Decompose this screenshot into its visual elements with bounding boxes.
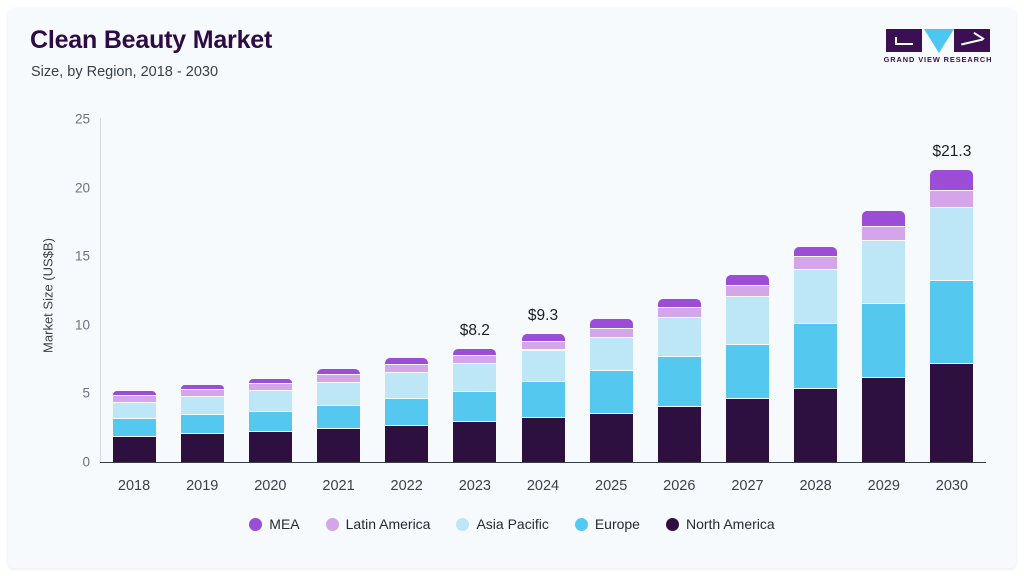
bar-segment-2023-asia-pacific[interactable] — [453, 363, 496, 390]
legend-item-label: Europe — [595, 516, 640, 532]
bar-segment-2028-north-america[interactable] — [794, 388, 837, 462]
y-axis-tick-0: 0 — [56, 455, 90, 470]
bar-segment-2027-north-america[interactable] — [726, 398, 769, 462]
legend-item-label: Asia Pacific — [476, 516, 548, 532]
bar-2025[interactable] — [590, 319, 633, 462]
chart-card: Clean Beauty Market Size, by Region, 201… — [8, 8, 1016, 568]
legend-item-latin-america[interactable]: Latin America — [326, 516, 431, 532]
bar-segment-2022-latin-america[interactable] — [385, 364, 428, 372]
chart-legend: MEALatin AmericaAsia PacificEuropeNorth … — [8, 516, 1016, 532]
bar-segment-2020-latin-america[interactable] — [249, 383, 292, 390]
bar-segment-2027-asia-pacific[interactable] — [726, 296, 769, 344]
bar-segment-2030-latin-america[interactable] — [930, 190, 973, 206]
x-axis-tick-2027: 2027 — [731, 478, 763, 494]
bar-2021[interactable] — [317, 369, 360, 462]
bar-segment-2026-latin-america[interactable] — [658, 307, 701, 317]
bar-segment-2022-europe[interactable] — [385, 398, 428, 425]
x-axis-tick-2028: 2028 — [799, 478, 831, 494]
bar-segment-2018-europe[interactable] — [113, 418, 156, 436]
bar-segment-2019-latin-america[interactable] — [181, 389, 224, 396]
bar-segment-2029-latin-america[interactable] — [862, 226, 905, 240]
legend-swatch-icon — [249, 518, 262, 531]
bar-2026[interactable] — [658, 299, 701, 462]
bar-segment-2026-mea[interactable] — [658, 299, 701, 307]
x-axis-tick-2025: 2025 — [595, 478, 627, 494]
bar-segment-2026-asia-pacific[interactable] — [658, 317, 701, 357]
bar-segment-2022-asia-pacific[interactable] — [385, 372, 428, 398]
bar-segment-2026-europe[interactable] — [658, 356, 701, 405]
x-axis-tick-2026: 2026 — [663, 478, 695, 494]
bar-2020[interactable] — [249, 379, 292, 462]
bar-segment-2022-north-america[interactable] — [385, 425, 428, 462]
bar-segment-2025-latin-america[interactable] — [590, 328, 633, 338]
bar-segment-2030-asia-pacific[interactable] — [930, 207, 973, 280]
bar-2024[interactable] — [522, 334, 565, 462]
legend-swatch-icon — [666, 518, 679, 531]
y-axis-tick-10: 10 — [56, 317, 90, 332]
bar-segment-2021-mea[interactable] — [317, 369, 360, 374]
x-axis-tick-2020: 2020 — [254, 478, 286, 494]
bar-segment-2027-europe[interactable] — [726, 344, 769, 398]
legend-swatch-icon — [575, 518, 588, 531]
bar-segment-2023-north-america[interactable] — [453, 421, 496, 462]
y-axis-tick-5: 5 — [56, 386, 90, 401]
y-axis-tick-15: 15 — [56, 249, 90, 264]
bar-segment-2024-europe[interactable] — [522, 381, 565, 417]
bar-segment-2023-europe[interactable] — [453, 391, 496, 421]
bar-segment-2019-asia-pacific[interactable] — [181, 396, 224, 414]
bar-segment-2030-north-america[interactable] — [930, 363, 973, 462]
bar-segment-2024-asia-pacific[interactable] — [522, 350, 565, 382]
bar-segment-2019-north-america[interactable] — [181, 433, 224, 462]
bar-segment-2018-north-america[interactable] — [113, 436, 156, 462]
bar-segment-2024-mea[interactable] — [522, 334, 565, 341]
y-axis-tick-20: 20 — [56, 180, 90, 195]
bar-segment-2024-north-america[interactable] — [522, 417, 565, 462]
bar-segment-2027-mea[interactable] — [726, 275, 769, 285]
bar-segment-2021-europe[interactable] — [317, 405, 360, 428]
bar-segment-2028-latin-america[interactable] — [794, 256, 837, 268]
bar-segment-2020-europe[interactable] — [249, 411, 292, 432]
legend-item-north-america[interactable]: North America — [666, 516, 775, 532]
bar-segment-2023-latin-america[interactable] — [453, 355, 496, 363]
bar-2022[interactable] — [385, 358, 428, 462]
x-axis-tick-2022: 2022 — [391, 478, 423, 494]
bar-segment-2030-europe[interactable] — [930, 280, 973, 364]
bar-value-label-2024: $9.3 — [528, 307, 558, 325]
bar-2030[interactable] — [930, 170, 973, 462]
x-axis-tick-2024: 2024 — [527, 478, 559, 494]
legend-swatch-icon — [456, 518, 469, 531]
x-axis-tick-2018: 2018 — [118, 478, 150, 494]
bar-value-label-2023: $8.2 — [460, 322, 490, 340]
bar-segment-2024-latin-america[interactable] — [522, 341, 565, 349]
bar-2019[interactable] — [181, 385, 224, 462]
bar-segment-2021-latin-america[interactable] — [317, 374, 360, 382]
bar-segment-2029-mea[interactable] — [862, 211, 905, 226]
bar-segment-2025-asia-pacific[interactable] — [590, 337, 633, 370]
y-axis-line — [100, 118, 101, 463]
y-axis-title: Market Size (US$B) — [41, 196, 56, 396]
bar-2018[interactable] — [113, 391, 156, 462]
bar-segment-2026-north-america[interactable] — [658, 406, 701, 462]
bar-segment-2023-mea[interactable] — [453, 349, 496, 354]
bar-segment-2025-north-america[interactable] — [590, 413, 633, 462]
bar-2028[interactable] — [794, 247, 837, 462]
legend-item-asia-pacific[interactable]: Asia Pacific — [456, 516, 548, 532]
bar-segment-2025-europe[interactable] — [590, 370, 633, 413]
bar-2027[interactable] — [726, 275, 769, 462]
x-axis-tick-2019: 2019 — [186, 478, 218, 494]
x-axis-tick-2030: 2030 — [936, 478, 968, 494]
bar-segment-2021-asia-pacific[interactable] — [317, 382, 360, 405]
bar-segment-2019-mea[interactable] — [181, 385, 224, 389]
bar-segment-2029-asia-pacific[interactable] — [862, 240, 905, 303]
legend-item-mea[interactable]: MEA — [249, 516, 299, 532]
legend-item-europe[interactable]: Europe — [575, 516, 640, 532]
bar-segment-2028-mea[interactable] — [794, 247, 837, 257]
bar-segment-2020-north-america[interactable] — [249, 431, 292, 462]
bar-segment-2018-latin-america[interactable] — [113, 395, 156, 402]
bar-segment-2020-mea[interactable] — [249, 379, 292, 383]
bar-value-label-2030: $21.3 — [933, 143, 972, 161]
bar-segment-2025-mea[interactable] — [590, 319, 633, 327]
legend-item-label: Latin America — [346, 516, 431, 532]
bar-segment-2020-asia-pacific[interactable] — [249, 390, 292, 411]
x-axis-line — [100, 462, 986, 463]
bar-segment-2029-north-america[interactable] — [862, 377, 905, 462]
bar-segment-2028-europe[interactable] — [794, 323, 837, 387]
x-axis-tick-2029: 2029 — [868, 478, 900, 494]
bar-segment-2018-mea[interactable] — [113, 391, 156, 395]
y-axis-tick-25: 25 — [56, 112, 90, 127]
bar-segment-2027-latin-america[interactable] — [726, 285, 769, 296]
bar-segment-2018-asia-pacific[interactable] — [113, 402, 156, 418]
legend-item-label: MEA — [269, 516, 299, 532]
x-axis-tick-2021: 2021 — [322, 478, 354, 494]
screenshot-root: Clean Beauty Market Size, by Region, 201… — [0, 0, 1024, 576]
legend-swatch-icon — [326, 518, 339, 531]
legend-item-label: North America — [686, 516, 775, 532]
x-axis-tick-2023: 2023 — [459, 478, 491, 494]
bar-segment-2028-asia-pacific[interactable] — [794, 269, 837, 324]
bar-segment-2021-north-america[interactable] — [317, 428, 360, 462]
bar-segment-2022-mea[interactable] — [385, 358, 428, 363]
bar-2029[interactable] — [862, 211, 905, 462]
chart-plot-area: Market Size (US$B) 051015202520182019202… — [8, 8, 1016, 568]
bar-segment-2030-mea[interactable] — [930, 170, 973, 191]
bar-2023[interactable] — [453, 349, 496, 462]
bar-segment-2029-europe[interactable] — [862, 303, 905, 377]
bar-segment-2019-europe[interactable] — [181, 414, 224, 433]
